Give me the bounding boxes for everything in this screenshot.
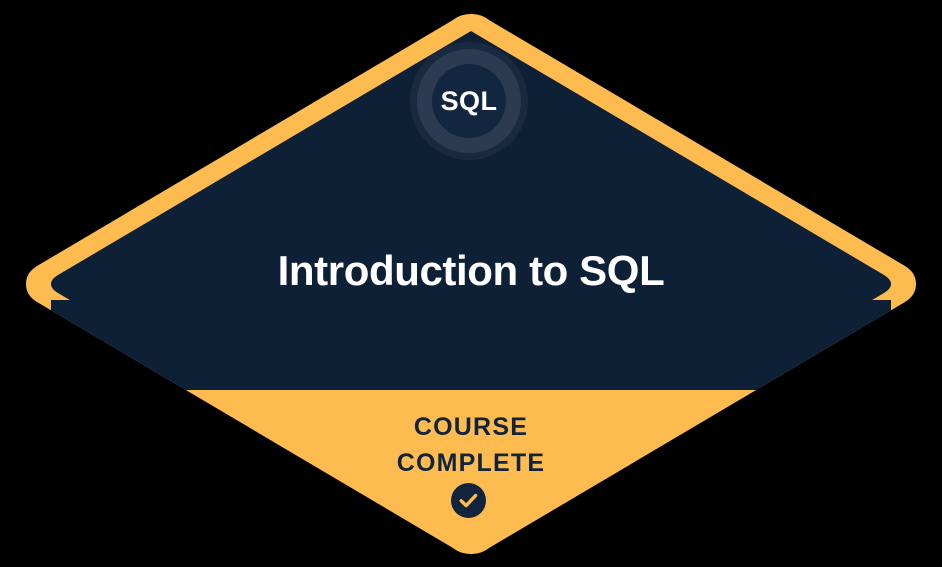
course-completion-card: SQL Introduction to SQL COURSE COMPLETE <box>0 0 942 567</box>
diamond-navy-panel <box>51 31 891 390</box>
diamond-graphic <box>0 0 942 567</box>
diamond-shape <box>0 0 942 567</box>
